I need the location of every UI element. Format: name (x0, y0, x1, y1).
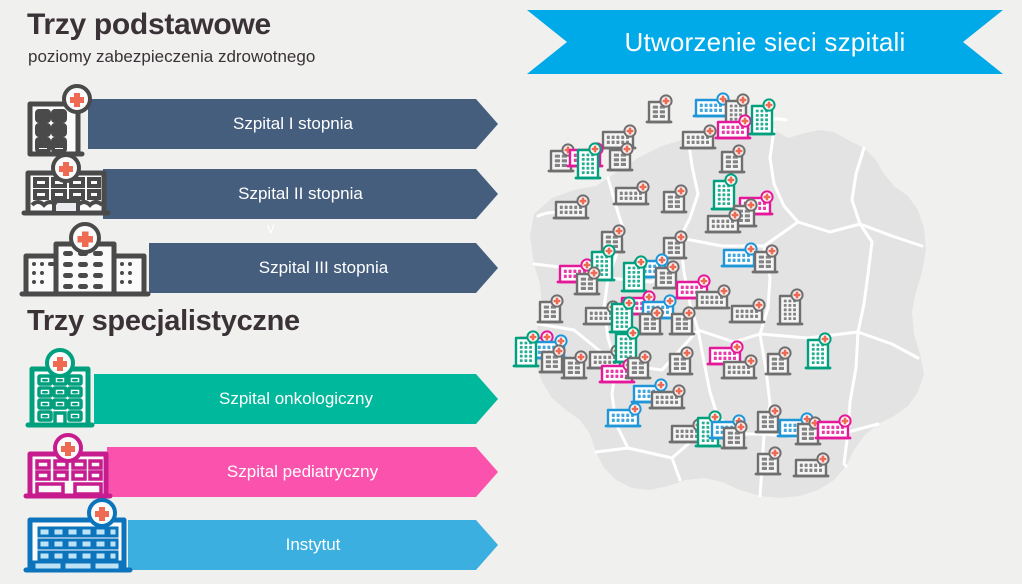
bar-szpital-i-stopnia[interactable]: Szpital I stopnia (88, 99, 498, 149)
poland-map[interactable] (512, 86, 1022, 584)
bar-label: Szpital III stopnia (259, 258, 388, 278)
bar-label: Instytut (286, 535, 341, 555)
bar-szpital-onkologiczny[interactable]: Szpital onkologiczny (94, 374, 498, 424)
map-marker (694, 93, 729, 116)
connector-chevron-icon: v (267, 221, 275, 236)
map-marker (750, 99, 775, 134)
bar-label: Szpital onkologiczny (219, 389, 373, 409)
right-panel: Utworzenie sieci szpitali (512, 0, 1022, 584)
bar-szpital-pediatryczny[interactable]: Szpital pediatryczny (107, 447, 498, 497)
page-title-basic: Trzy podstawowe (27, 8, 271, 42)
map-marker (681, 125, 716, 148)
bar-label: Szpital I stopnia (233, 114, 353, 134)
page-subtitle-basic: poziomy zabezpieczenia zdrowotnego (28, 47, 315, 67)
banner-utworzenie-sieci-szpitali: Utworzenie sieci szpitali (527, 10, 1003, 74)
map-marker (576, 143, 601, 178)
map-marker (514, 331, 539, 366)
hospital-institute-icon (22, 498, 134, 584)
banner-title: Utworzenie sieci szpitali (625, 27, 906, 58)
page-title-specialist: Trzy specjalistyczne (27, 305, 300, 338)
bar-label: Szpital pediatryczny (227, 462, 378, 482)
bar-szpital-ii-stopnia[interactable]: Szpital II stopnia (103, 169, 498, 219)
bar-label: Szpital II stopnia (238, 184, 363, 204)
bar-szpital-iii-stopnia[interactable]: Szpital III stopnia (149, 243, 498, 293)
bar-instytut[interactable]: Instytut (128, 520, 498, 570)
map-marker (647, 95, 672, 122)
hospital-small-icon (24, 82, 98, 165)
hospital-large-icon (18, 222, 152, 305)
left-panel: Trzy podstawowe poziomy zabezpieczenia z… (0, 0, 512, 584)
hospital-oncology-icon (24, 345, 102, 436)
hospital-medium-icon (20, 155, 112, 226)
infographic-root: Trzy podstawowe poziomy zabezpieczenia z… (0, 0, 1022, 584)
